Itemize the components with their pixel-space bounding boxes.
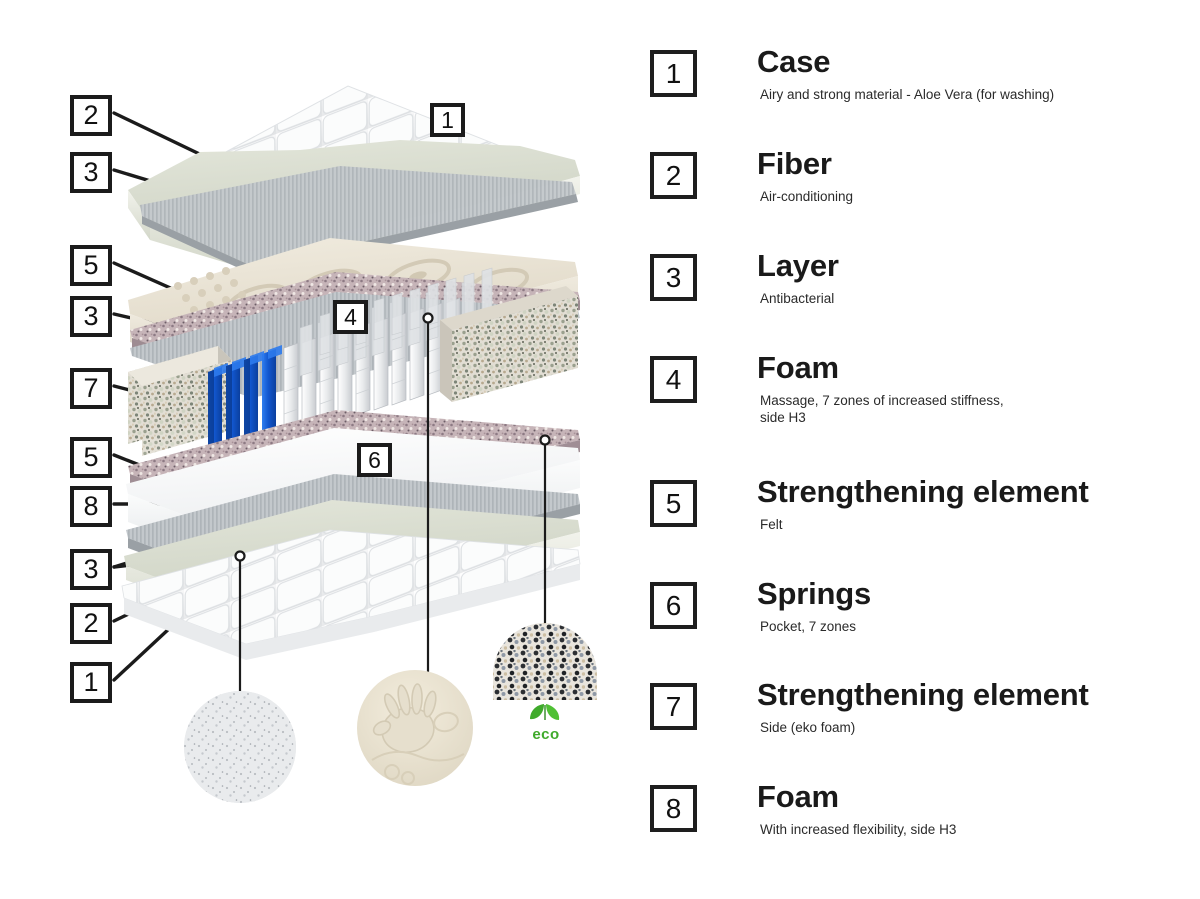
legend-text-6: Springs Pocket, 7 zones — [757, 578, 1197, 635]
legend-number-3: 3 — [650, 254, 697, 301]
eco-badge: eco — [518, 700, 574, 752]
legend-subtitle-8: With increased flexibility, side H3 — [760, 821, 1197, 839]
legend-number-8: 8 — [650, 785, 697, 832]
callout-3-upper-layer: 3 — [70, 296, 112, 337]
legend-subtitle-4: Massage, 7 zones of increased stiffness,… — [760, 392, 1197, 428]
legend-subtitle-7: Side (eko foam) — [760, 719, 1197, 737]
legend-panel: 1 Case Airy and strong material - Aloe V… — [630, 0, 1200, 899]
callout-5-upper-felt: 5 — [70, 245, 112, 286]
image-label-4-foam: 4 — [333, 300, 368, 334]
legend-title-7: Strengthening element — [757, 679, 1197, 712]
legend-title-3: Layer — [757, 250, 1197, 283]
legend-title-1: Case — [757, 46, 1197, 79]
callout-5-lower-felt: 5 — [70, 437, 112, 478]
exploded-mattress-diagram: 1 4 6 2 3 5 3 7 5 8 3 2 1 eco — [0, 0, 630, 899]
legend-title-2: Fiber — [757, 148, 1197, 181]
legend-text-1: Case Airy and strong material - Aloe Ver… — [757, 46, 1197, 103]
legend-subtitle-1: Airy and strong material - Aloe Vera (fo… — [760, 86, 1197, 104]
callout-8-bottom-foam: 8 — [70, 486, 112, 527]
legend-title-6: Springs — [757, 578, 1197, 611]
callout-3-top-layer: 3 — [70, 152, 112, 193]
legend-text-7: Strengthening element Side (eko foam) — [757, 679, 1197, 736]
detail-circle-eko-foam — [490, 620, 602, 705]
callout-1-bottom-case: 1 — [70, 662, 112, 703]
image-label-6-springs: 6 — [357, 443, 392, 477]
legend-title-8: Foam — [757, 781, 1197, 814]
legend-text-5: Strengthening element Felt — [757, 476, 1197, 533]
legend-title-4: Foam — [757, 352, 1197, 385]
legend-number-6: 6 — [650, 582, 697, 629]
legend-text-4: Foam Massage, 7 zones of increased stiff… — [757, 352, 1197, 427]
mattress-layers-infographic: 1 4 6 2 3 5 3 7 5 8 3 2 1 eco 1 Case Air… — [0, 0, 1200, 899]
legend-text-3: Layer Antibacterial — [757, 250, 1197, 307]
legend-number-5: 5 — [650, 480, 697, 527]
legend-number-4: 4 — [650, 356, 697, 403]
callout-2-bottom-fiber: 2 — [70, 603, 112, 644]
callout-3-bottom-layer: 3 — [70, 549, 112, 590]
legend-number-2: 2 — [650, 152, 697, 199]
detail-circle-white-foam — [184, 691, 296, 803]
legend-subtitle-6: Pocket, 7 zones — [760, 618, 1197, 636]
legend-text-8: Foam With increased flexibility, side H3 — [757, 781, 1197, 838]
image-label-1-case: 1 — [430, 103, 465, 137]
callout-7-side-eko-foam: 7 — [70, 368, 112, 409]
detail-circle-memory-foam — [357, 670, 473, 786]
legend-text-2: Fiber Air-conditioning — [757, 148, 1197, 205]
eco-badge-label: eco — [518, 726, 574, 743]
legend-title-5: Strengthening element — [757, 476, 1197, 509]
legend-subtitle-5: Felt — [760, 516, 1197, 534]
legend-subtitle-3: Antibacterial — [760, 290, 1197, 308]
legend-number-7: 7 — [650, 683, 697, 730]
callout-2-top-fiber: 2 — [70, 95, 112, 136]
legend-number-1: 1 — [650, 50, 697, 97]
legend-subtitle-2: Air-conditioning — [760, 188, 1197, 206]
